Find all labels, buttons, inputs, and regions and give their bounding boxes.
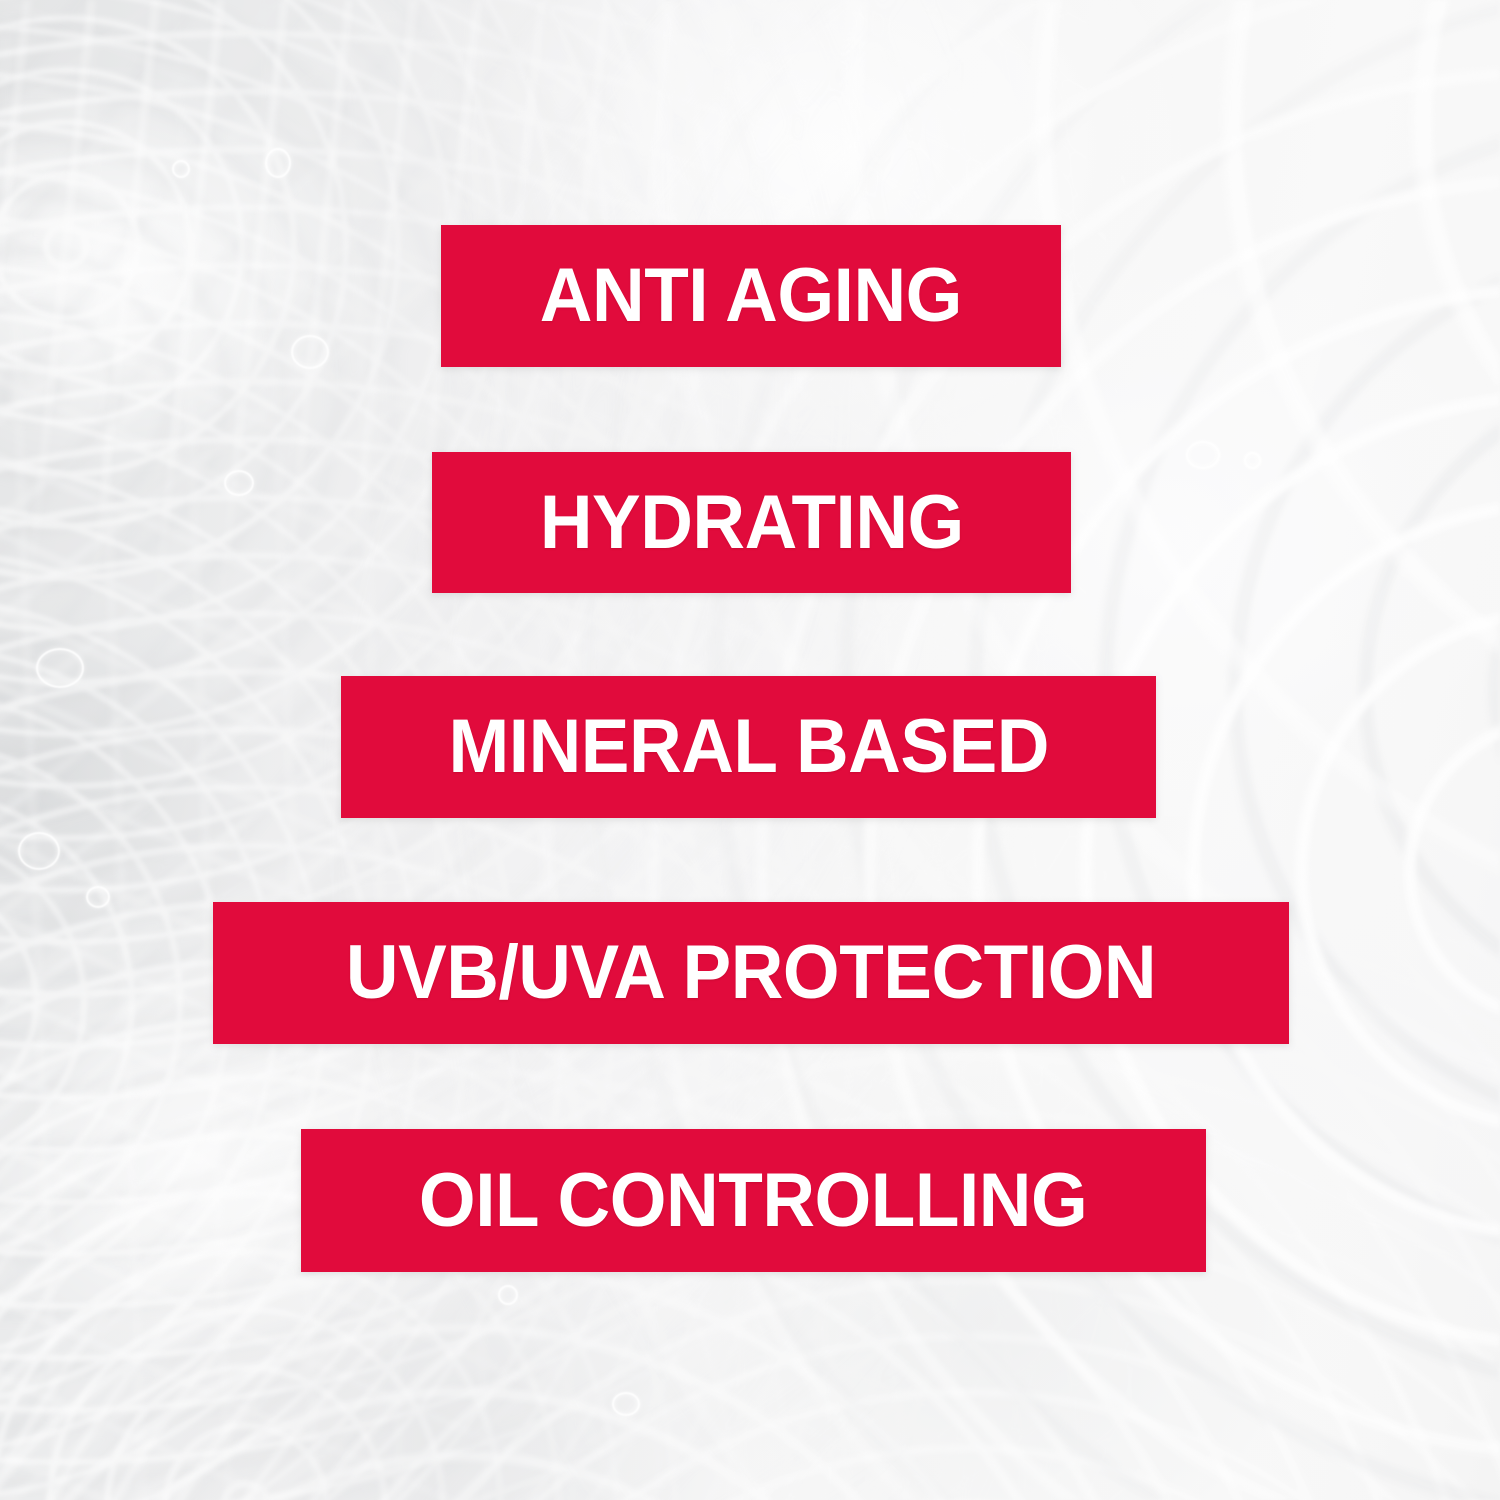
benefit-banner-uvb-uva-protection: UVB/UVA PROTECTION (213, 902, 1289, 1044)
benefit-label: ANTI AGING (540, 258, 962, 334)
benefit-banner-hydrating: HYDRATING (432, 452, 1071, 593)
product-benefits-graphic: ANTI AGING HYDRATING MINERAL BASED UVB/U… (0, 0, 1500, 1500)
benefit-label: OIL CONTROLLING (419, 1163, 1087, 1239)
benefit-label: MINERAL BASED (448, 709, 1048, 785)
benefit-banner-list: ANTI AGING HYDRATING MINERAL BASED UVB/U… (0, 0, 1500, 1500)
benefit-banner-mineral-based: MINERAL BASED (341, 676, 1156, 818)
benefit-label: UVB/UVA PROTECTION (346, 935, 1156, 1011)
benefit-banner-anti-aging: ANTI AGING (441, 225, 1061, 367)
benefit-banner-oil-controlling: OIL CONTROLLING (301, 1129, 1206, 1272)
benefit-label: HYDRATING (540, 485, 964, 561)
